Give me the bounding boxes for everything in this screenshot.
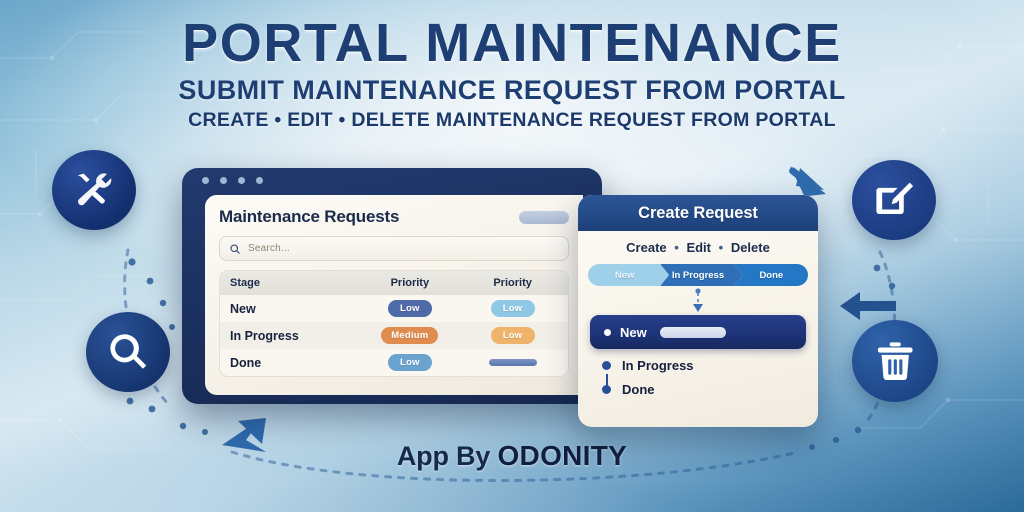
separator-dot: •: [674, 240, 679, 255]
selected-dot-icon: [604, 329, 611, 336]
table-row[interactable]: Done Low: [220, 349, 568, 376]
stage-dot-icon: [602, 361, 611, 370]
create-action[interactable]: Create: [626, 240, 666, 255]
browser-window: Maintenance Requests Search... Stage Pri…: [182, 168, 602, 404]
stage-field-placeholder: [660, 327, 726, 338]
status-badge: Low: [388, 354, 432, 371]
crud-actions: Create • Edit • Delete: [578, 240, 818, 255]
stage-dot-icon: [602, 385, 611, 394]
footer-credit: App By ODONITY: [0, 440, 1024, 472]
selected-stage-label: New: [620, 325, 647, 340]
table-row[interactable]: In Progress Medium Low: [220, 322, 568, 349]
cell-stage: New: [230, 302, 358, 316]
create-request-panel: Create Request Create • Edit • Delete Ne…: [578, 195, 818, 427]
status-badge: Low: [388, 300, 432, 317]
cell-stage: In Progress: [230, 329, 358, 343]
window-dot[interactable]: [256, 177, 263, 184]
search-icon: [229, 243, 241, 255]
search-placeholder: Search...: [248, 243, 290, 254]
selected-stage-row[interactable]: New: [590, 315, 806, 349]
page-tagline: CREATE • EDIT • DELETE MAINTENANCE REQUE…: [0, 109, 1024, 132]
cell-priority-1: Medium: [358, 327, 461, 344]
footer-light-text: App By: [397, 441, 498, 471]
page-title: PORTAL MAINTENANCE: [0, 16, 1024, 71]
status-badge: Low: [491, 300, 535, 317]
table-row[interactable]: New Low Low: [220, 295, 568, 322]
panel-header: Maintenance Requests: [219, 207, 569, 227]
cell-priority-2: Low: [461, 300, 564, 317]
stage-label: Done: [622, 382, 655, 397]
create-panel-title: Create Request: [638, 204, 758, 223]
delete-action[interactable]: Delete: [731, 240, 770, 255]
search-input[interactable]: Search...: [219, 236, 569, 261]
cell-stage: Done: [230, 356, 358, 370]
stage-breadcrumb: New In Progress Done: [588, 264, 808, 286]
cell-priority-2: Low: [461, 327, 564, 344]
edit-glyph: [871, 178, 916, 221]
table-header-row: Stage Priority Priority: [220, 271, 568, 295]
stage-chevron-new[interactable]: New: [588, 264, 661, 286]
create-panel-header: Create Request: [578, 195, 818, 231]
column-header-priority-1: Priority: [358, 277, 461, 289]
edit-pencil-square-icon: [852, 160, 936, 240]
page-subtitle: SUBMIT MAINTENANCE REQUEST FROM PORTAL: [0, 75, 1024, 106]
stage-list-item-done[interactable]: Done: [578, 382, 818, 397]
search-glyph: [105, 330, 150, 373]
requests-panel: Maintenance Requests Search... Stage Pri…: [205, 195, 583, 395]
stage-chevron-in-progress[interactable]: In Progress: [661, 264, 734, 286]
stage-label: In Progress: [622, 358, 694, 373]
flow-arrow-down-icon: [578, 288, 818, 314]
column-header-stage: Stage: [230, 277, 358, 289]
window-dot[interactable]: [220, 177, 227, 184]
tools-glyph: [71, 168, 116, 211]
trash-glyph: [872, 339, 918, 383]
column-header-priority-2: Priority: [461, 277, 564, 289]
requests-table: Stage Priority Priority New Low Low In P…: [219, 270, 569, 377]
header-block: PORTAL MAINTENANCE SUBMIT MAINTENANCE RE…: [0, 16, 1024, 132]
trash-delete-icon: [852, 320, 938, 402]
window-titlebar: [202, 177, 263, 184]
tools-wrench-screwdriver-icon: [52, 150, 136, 230]
cell-priority-1: Low: [358, 300, 461, 317]
arrow-left-icon: [840, 292, 896, 320]
window-dot[interactable]: [238, 177, 245, 184]
stage-chevron-done[interactable]: Done: [735, 264, 808, 286]
status-badge: Medium: [381, 327, 438, 344]
separator-dot: •: [719, 240, 724, 255]
progress-bar: [489, 359, 537, 366]
new-request-button[interactable]: [519, 211, 569, 224]
footer-brand-name: ODONITY: [497, 440, 627, 471]
stage-list-item-in-progress[interactable]: In Progress: [578, 358, 818, 373]
cell-priority-1: Low: [358, 354, 461, 371]
edit-action[interactable]: Edit: [686, 240, 711, 255]
magnifier-search-icon: [86, 312, 170, 392]
cell-priority-2: [461, 359, 564, 366]
panel-title: Maintenance Requests: [219, 207, 399, 227]
status-badge: Low: [491, 327, 535, 344]
window-dot[interactable]: [202, 177, 209, 184]
